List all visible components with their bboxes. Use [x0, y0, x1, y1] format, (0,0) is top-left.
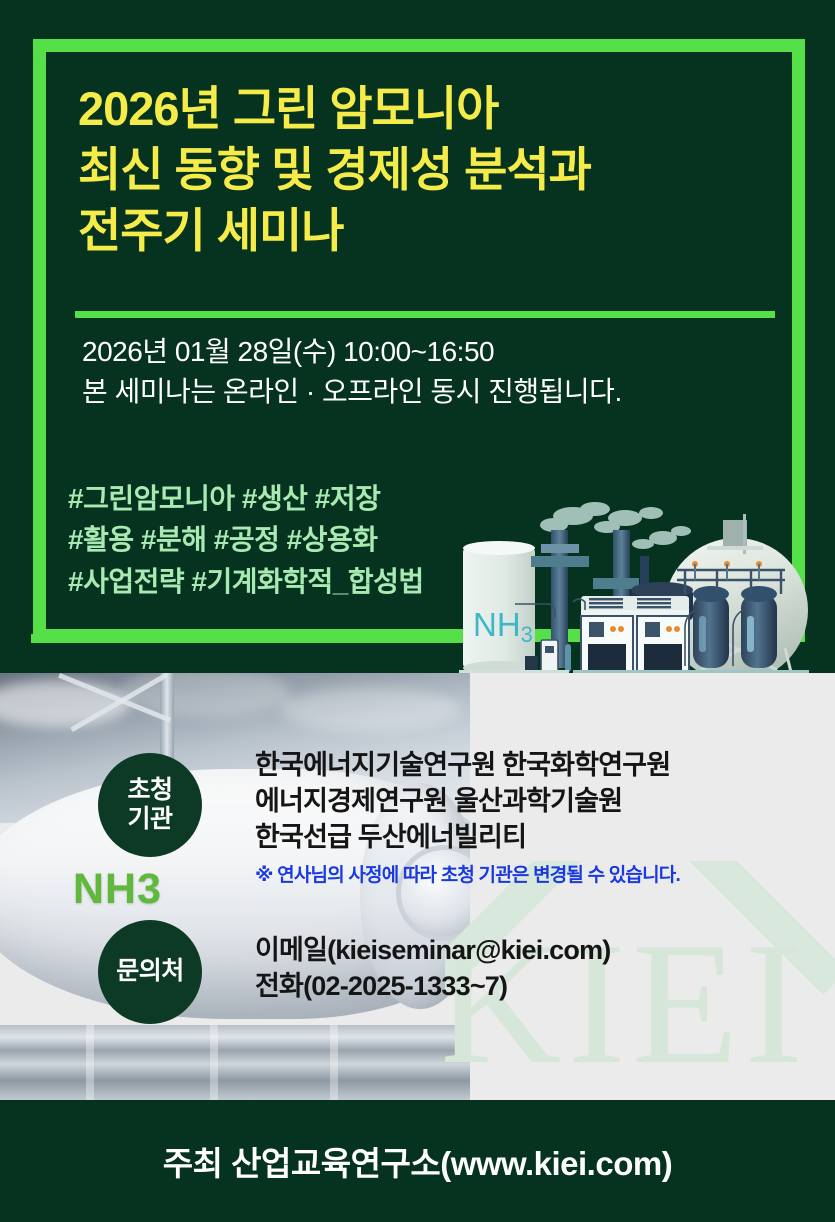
footer-organizer[interactable]: 주최 산업교육연구소(www.kiei.com): [163, 1137, 672, 1185]
schedule-date-time: 2026년 01월 28일(수) 10:00~16:50: [82, 332, 742, 372]
schedule-block: 2026년 01월 28일(수) 10:00~16:50 본 세미나는 온라인 …: [82, 332, 742, 412]
ammonia-plant-illustration: NH3: [455, 498, 835, 673]
organization-line-2: 에너지경제연구원 울산과학기술원: [255, 784, 815, 820]
pressure-vessel-1: [693, 594, 729, 668]
title-line-3: 전주기 세미나: [78, 200, 758, 261]
contact-details: 이메일(kieiseminar@kiei.com) 전화(02-2025-133…: [255, 932, 815, 1004]
pressure-vessel-2: [741, 594, 777, 668]
contact-badge-label: 문의처: [116, 957, 184, 987]
invited-note: ※ 연사님의 사정에 따라 초청 기관은 변경될 수 있습니다.: [255, 860, 815, 887]
contact-badge: 문의처: [98, 920, 202, 1024]
contact-email[interactable]: 이메일(kieiseminar@kiei.com): [255, 932, 815, 968]
invited-badge-line-2: 기관: [127, 805, 172, 835]
organization-line-1: 한국에너지기술연구원 한국화학연구원: [255, 748, 815, 784]
footer-bar: 주최 산업교육연구소(www.kiei.com): [0, 1100, 835, 1222]
title-line-2: 최신 동향 및 경제성 분석과: [78, 139, 758, 200]
pipeline-foreground: [0, 1025, 470, 1100]
cloud-shape: [280, 687, 460, 731]
green-accent-bar: [31, 634, 478, 643]
organization-line-3: 한국선급 두산에너빌리티: [255, 820, 815, 856]
plant-svg: NH3: [455, 498, 835, 673]
invited-badge: 초청 기관: [98, 753, 202, 857]
title-divider: [75, 311, 775, 318]
seminar-poster: 2026년 그린 암모니아 최신 동향 및 경제성 분석과 전주기 세미나 20…: [0, 0, 835, 1222]
title-line-1: 2026년 그린 암모니아: [78, 78, 758, 139]
contact-phone[interactable]: 전화(02-2025-1333~7): [255, 968, 815, 1004]
control-panel: [541, 640, 558, 672]
invited-badge-line-1: 초청: [127, 776, 172, 806]
nh3-photo-label: NH3: [73, 865, 162, 914]
page-title: 2026년 그린 암모니아 최신 동향 및 경제성 분석과 전주기 세미나: [78, 78, 758, 261]
header-panel: 2026년 그린 암모니아 최신 동향 및 경제성 분석과 전주기 세미나 20…: [0, 0, 835, 673]
schedule-format-note: 본 세미나는 온라인 · 오프라인 동시 진행됩니다.: [82, 372, 742, 412]
invited-organizations: 한국에너지기술연구원 한국화학연구원 에너지경제연구원 울산과학기술원 한국선급…: [255, 748, 815, 887]
